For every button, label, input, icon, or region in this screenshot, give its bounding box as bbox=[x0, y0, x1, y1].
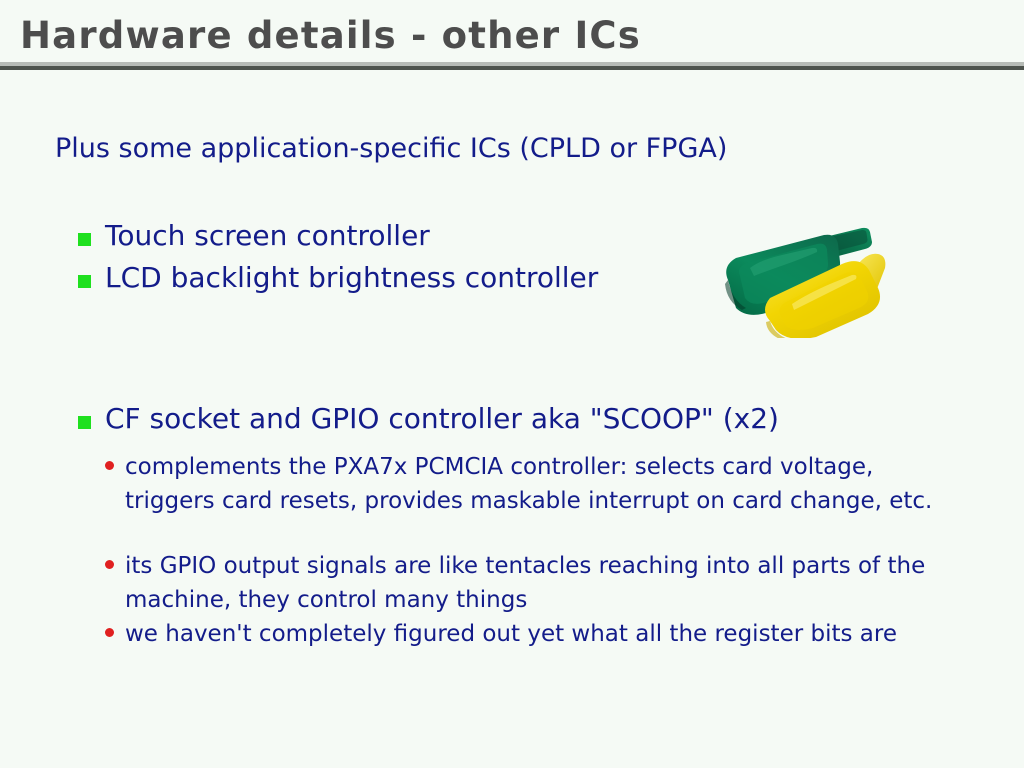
lead-statement: Plus some application-specific ICs (CPLD… bbox=[55, 133, 727, 164]
square-bullet-icon bbox=[78, 416, 91, 429]
bullet-item-lcd-backlight: LCD backlight brightness controller bbox=[78, 264, 598, 292]
square-bullet-icon bbox=[78, 275, 91, 288]
square-bullet-icon bbox=[78, 233, 91, 246]
bullet-label: Touch screen controller bbox=[105, 222, 430, 250]
sub-bullet-item-pcmcia: complements the PXA7x PCMCIA controller:… bbox=[105, 450, 935, 518]
sub-bullet-label: its GPIO output signals are like tentacl… bbox=[125, 549, 935, 617]
bullet-label: LCD backlight brightness controller bbox=[105, 264, 598, 292]
sub-bullet-label: complements the PXA7x PCMCIA controller:… bbox=[125, 450, 935, 518]
dot-bullet-icon bbox=[105, 628, 114, 637]
plastic-scoops-photo bbox=[712, 218, 920, 338]
sub-bullet-label: we haven't completely figured out yet wh… bbox=[125, 617, 897, 651]
dot-bullet-icon bbox=[105, 560, 114, 569]
dot-bullet-icon bbox=[105, 461, 114, 470]
bullet-item-touch-screen: Touch screen controller bbox=[78, 222, 430, 250]
bullet-item-cf-socket-scoop: CF socket and GPIO controller aka "SCOOP… bbox=[78, 405, 779, 433]
sub-bullet-item-gpio-tentacles: its GPIO output signals are like tentacl… bbox=[105, 549, 935, 617]
slide-body: Plus some application-specific ICs (CPLD… bbox=[0, 0, 1024, 768]
sub-bullet-item-register-bits: we haven't completely figured out yet wh… bbox=[105, 617, 935, 651]
bullet-label: CF socket and GPIO controller aka "SCOOP… bbox=[105, 405, 779, 433]
